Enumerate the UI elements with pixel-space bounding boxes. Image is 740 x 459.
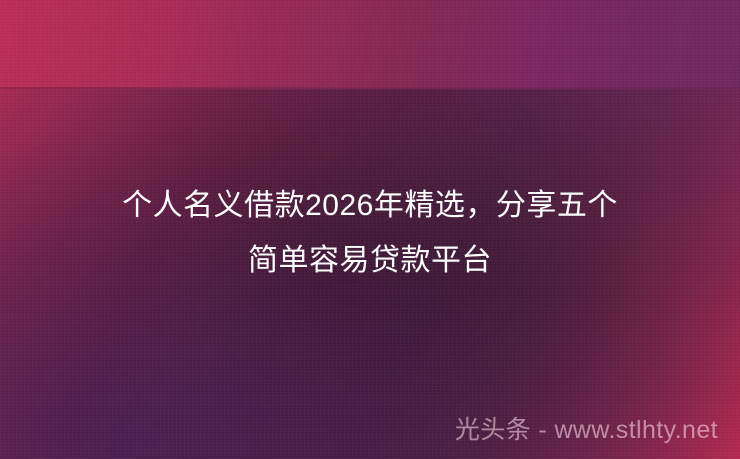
banner-title: 个人名义借款2026年精选，分享五个 简单容易贷款平台 (0, 178, 740, 288)
banner-title-line-2: 简单容易贷款平台 (24, 233, 716, 288)
top-band-divider (0, 87, 740, 89)
top-color-band (0, 0, 740, 88)
promo-banner: 个人名义借款2026年精选，分享五个 简单容易贷款平台 光头条 - www.st… (0, 0, 740, 459)
banner-title-line-1: 个人名义借款2026年精选，分享五个 (24, 178, 716, 233)
site-watermark: 光头条 - www.stlhty.net (455, 415, 718, 445)
